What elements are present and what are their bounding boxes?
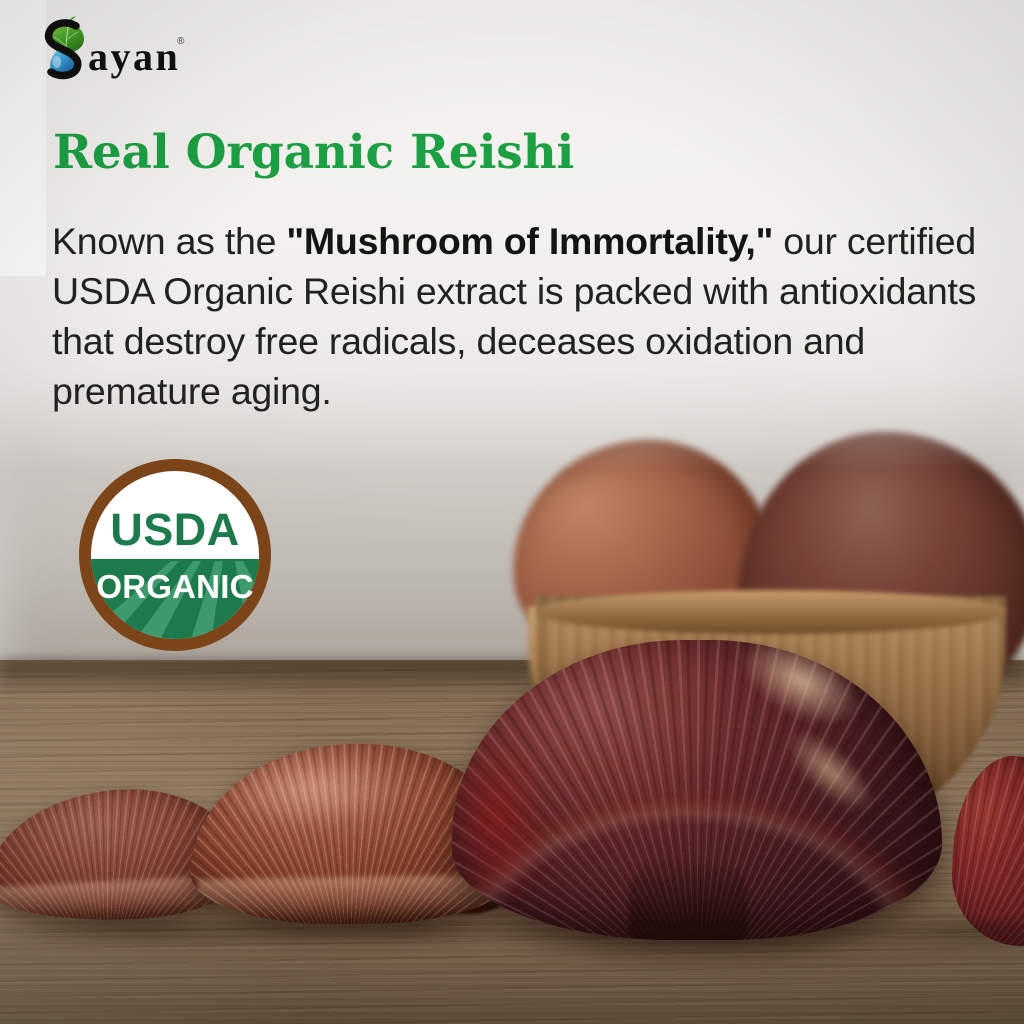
wooden-bowl-rim (536, 590, 1006, 634)
usda-organic-seal-svg: USDA ORGANIC (75, 455, 275, 655)
page-title: Real Organic Reishi (53, 128, 574, 179)
body-paragraph: Known as the "Mushroom of Immortality," … (52, 216, 982, 416)
promo-poster: ayan ® Real Organic Reishi Known as the … (0, 0, 1024, 1024)
sayan-logo-svg: ayan ® (36, 14, 186, 80)
seal-organic-label: ORGANIC (96, 568, 253, 605)
mushroom-contact-shadows (0, 900, 1024, 960)
foreground-mushroom-main (452, 640, 942, 940)
sayan-logo[interactable]: ayan ® (36, 14, 186, 80)
body-segment-lead: Known as the (52, 220, 286, 262)
registered-trademark-icon: ® (177, 36, 185, 47)
seal-usda-label: USDA (110, 504, 240, 555)
body-segment-emphasis: "Mushroom of Immortality," (286, 220, 773, 262)
usda-organic-seal: USDA ORGANIC (75, 455, 275, 655)
logo-wordmark: ayan (88, 34, 180, 79)
